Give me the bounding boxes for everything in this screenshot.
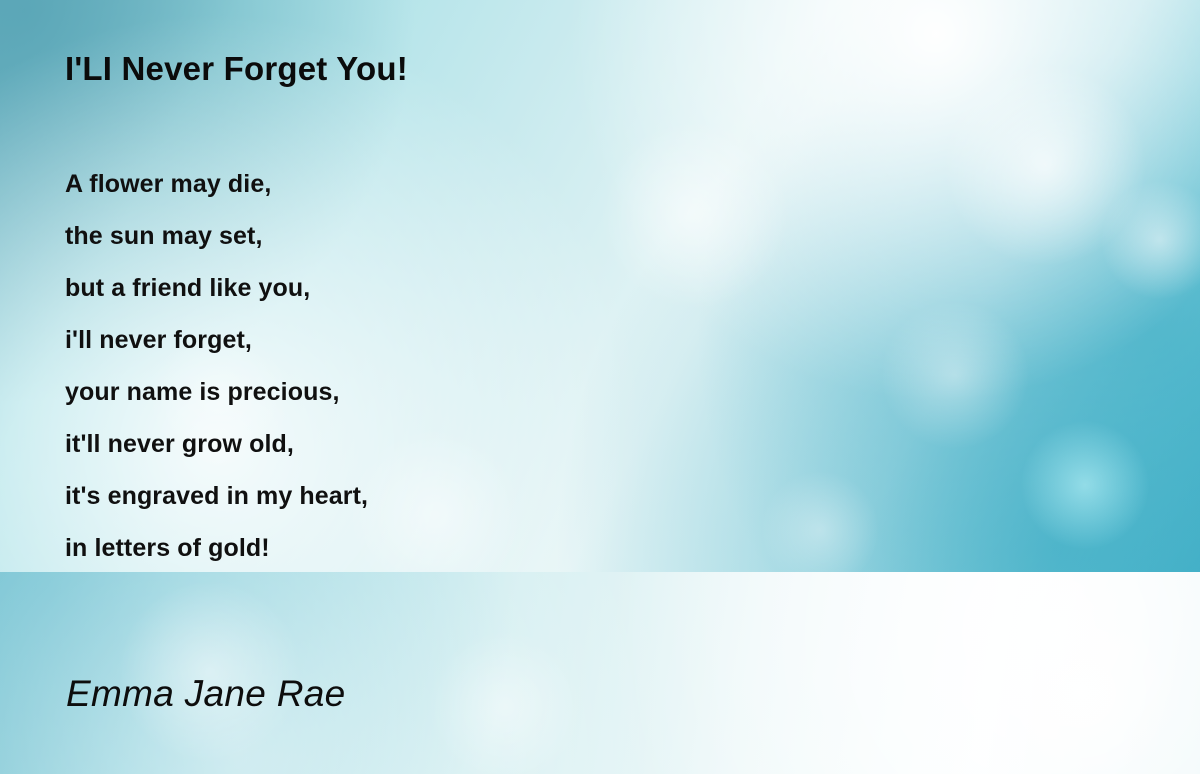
poem-line: in letters of gold! [65,522,368,572]
bokeh-circle-icon [1100,180,1200,300]
bokeh-circle-icon [940,60,1150,270]
bokeh-circle-icon [1020,420,1150,550]
bokeh-circle-icon [980,592,1180,774]
poem-line: the sun may set, [65,210,368,262]
bokeh-circle-icon [120,582,300,762]
poem-line: it'll never grow old, [65,418,368,470]
poem-line: your name is precious, [65,366,368,418]
bokeh-circle-icon [350,430,520,572]
poem-line: it's engraved in my heart, [65,470,368,522]
poem-image: I'LI Never Forget You! A flower may die,… [0,0,1200,774]
bokeh-circle-icon [880,300,1030,450]
bokeh-circle-icon [600,120,790,310]
author-name: Emma Jane Rae [66,673,345,715]
poem-line: i'll never forget, [65,314,368,366]
poem-panel: I'LI Never Forget You! A flower may die,… [0,0,1200,572]
bokeh-circle-icon [760,470,880,572]
poem-line: A flower may die, [65,158,368,210]
bokeh-circle-icon [430,632,580,774]
poem-body: A flower may die, the sun may set, but a… [65,158,368,572]
poem-line: but a friend like you, [65,262,368,314]
poem-title: I'LI Never Forget You! [65,50,408,88]
